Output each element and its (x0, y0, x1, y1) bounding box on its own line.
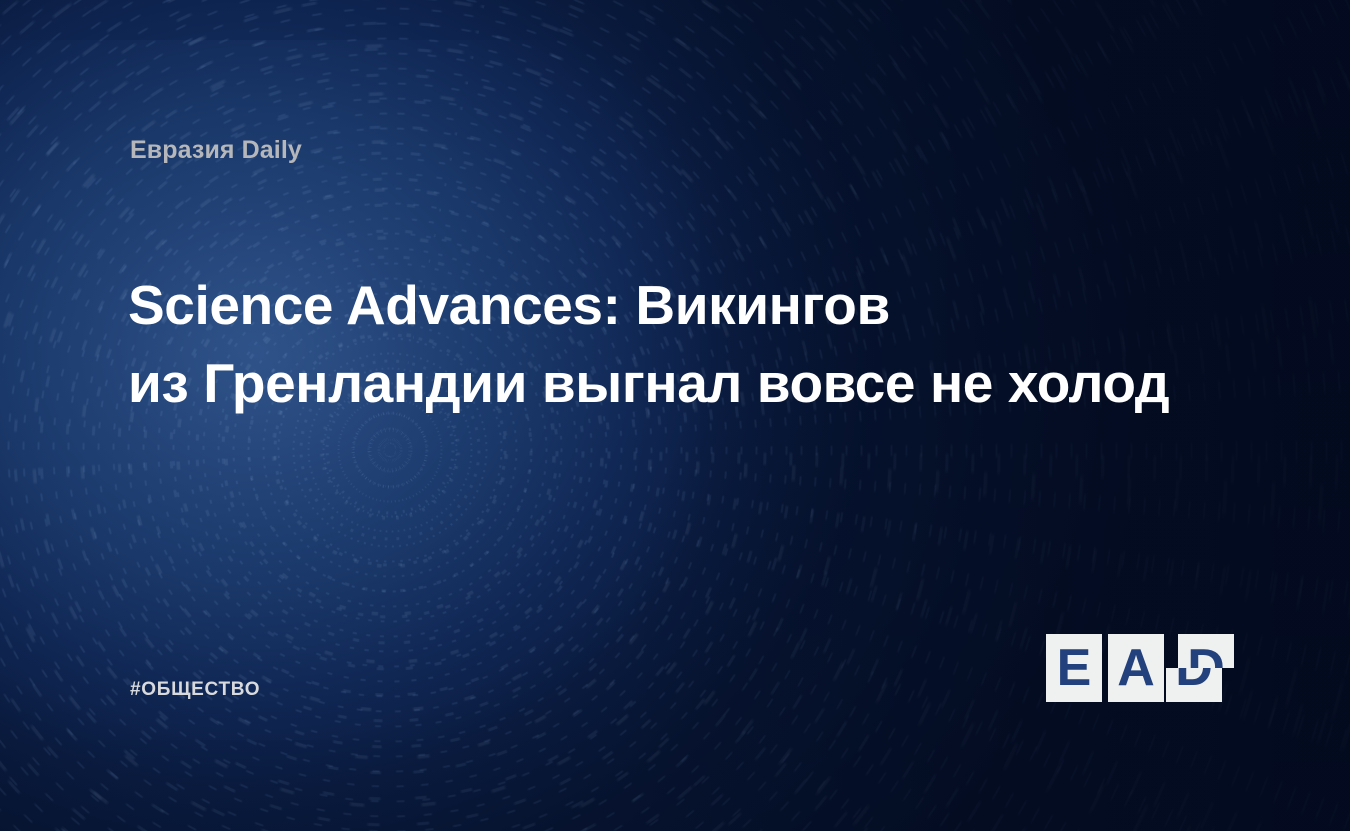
logo-tile-a: A (1108, 634, 1164, 702)
site-name: Евразия Daily (130, 136, 302, 165)
logo-tile-d-top-half: D (1178, 634, 1234, 668)
cover-content: Евразия Daily Science Advances: Викингов… (0, 0, 1350, 831)
logo-tile-d-split: D D (1170, 634, 1230, 702)
headline: Science Advances: Викингов из Гренландии… (128, 266, 1248, 422)
logo-tile-d-bottom-half: D (1166, 668, 1222, 702)
headline-line-2: из Гренландии выгнал вовсе не холод (128, 344, 1248, 422)
logo-letter-a: A (1108, 642, 1164, 694)
logo-letter-d-top: D (1178, 634, 1234, 668)
category-tag[interactable]: #ОБЩЕСТВО (130, 679, 260, 701)
logo-letter-e: E (1046, 642, 1102, 694)
logo-tile-e: E (1046, 634, 1102, 702)
headline-line-1: Science Advances: Викингов (128, 266, 1248, 344)
news-cover-card: Евразия Daily Science Advances: Викингов… (0, 0, 1350, 831)
ead-logo[interactable]: E A D D (1046, 634, 1222, 702)
logo-letter-d-bottom: D (1166, 668, 1222, 702)
